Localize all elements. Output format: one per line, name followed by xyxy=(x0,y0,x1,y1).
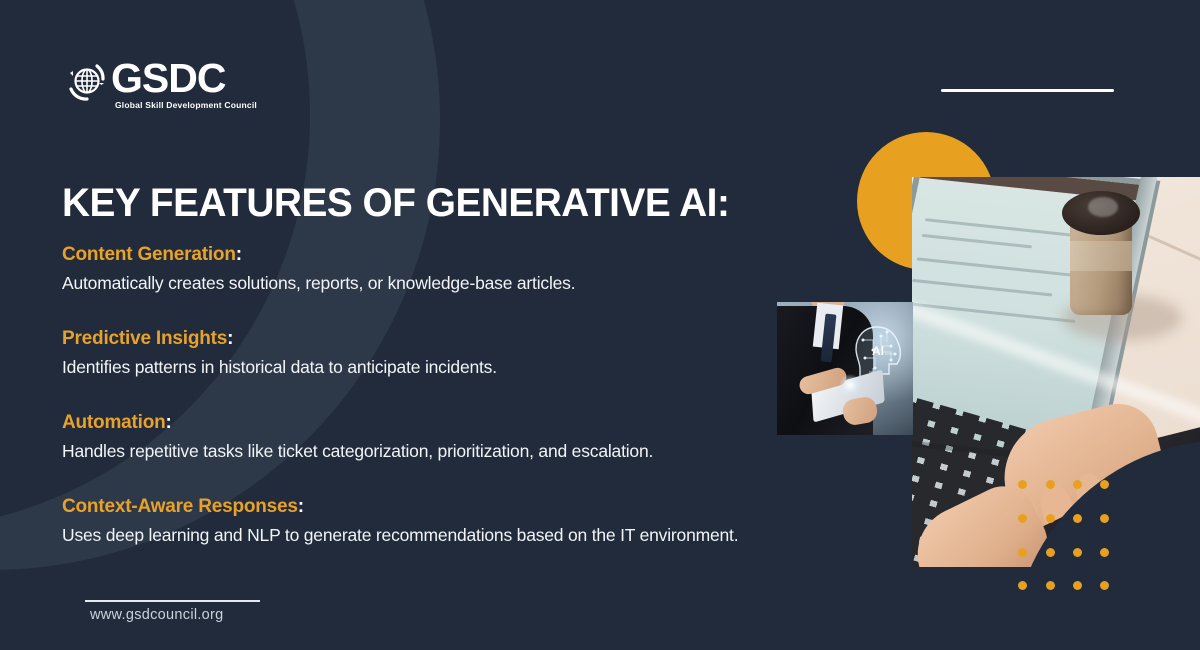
feature-title-colon: : xyxy=(227,328,233,349)
screen-text-line xyxy=(925,218,1076,237)
feature-item-predictive-insights: Predictive Insights: Identifies patterns… xyxy=(62,328,497,378)
amber-dot xyxy=(1100,581,1109,590)
feature-title-text: Context-Aware Responses xyxy=(62,496,298,517)
feature-title-text: Predictive Insights xyxy=(62,328,227,349)
feature-title: Automation: xyxy=(62,412,653,434)
holo-ai-label: AI xyxy=(872,344,884,358)
logo-tagline: Global Skill Development Council xyxy=(115,100,257,110)
logo-wordmark: GSDC xyxy=(111,55,225,101)
amber-dot xyxy=(1073,548,1082,557)
feature-title: Predictive Insights: xyxy=(62,328,497,350)
gsdc-logo[interactable]: GSDC Global Skill Development Council xyxy=(63,55,243,113)
amber-dot xyxy=(1100,514,1109,523)
amber-dot xyxy=(1018,480,1027,489)
amber-dot xyxy=(1046,581,1055,590)
poster-canvas: AI GSDC Global Skill Developme xyxy=(0,0,1200,650)
feature-item-automation: Automation: Handles repetitive tasks lik… xyxy=(62,412,653,462)
coffee-cup-band xyxy=(1070,241,1132,271)
photo-ai-hologram: AI xyxy=(777,302,913,435)
amber-dot xyxy=(1046,548,1055,557)
amber-dot xyxy=(1018,548,1027,557)
amber-dot xyxy=(1073,480,1082,489)
feature-body: Identifies patterns in historical data t… xyxy=(62,357,497,378)
footer-website-url[interactable]: www.gsdcouncil.org xyxy=(90,607,224,623)
feature-title-text: Automation xyxy=(62,412,166,433)
feature-title: Content Generation: xyxy=(62,244,575,266)
amber-dot xyxy=(1018,581,1027,590)
screen-text-line xyxy=(922,234,1033,248)
feature-item-content-generation: Content Generation: Automatically create… xyxy=(62,244,575,294)
amber-dot xyxy=(1046,514,1055,523)
coffee-cup-lid-highlight xyxy=(1088,197,1118,217)
feature-item-context-aware-responses: Context-Aware Responses: Uses deep learn… xyxy=(62,496,738,546)
feature-title: Context-Aware Responses: xyxy=(62,496,738,518)
feature-body: Automatically creates solutions, reports… xyxy=(62,273,575,294)
feature-title-colon: : xyxy=(298,496,304,517)
amber-dot xyxy=(1018,514,1027,523)
amber-dot xyxy=(1100,548,1109,557)
amber-dot xyxy=(1046,480,1055,489)
feature-body: Handles repetitive tasks like ticket cat… xyxy=(62,441,653,462)
feature-title-colon: : xyxy=(236,244,242,265)
amber-dot xyxy=(1073,514,1082,523)
page-title: KEY FEATURES OF GENERATIVE AI: xyxy=(62,181,729,226)
top-right-divider xyxy=(941,89,1114,92)
holo-touch-glow xyxy=(839,374,861,396)
feature-title-colon: : xyxy=(166,412,172,433)
globe-orbit-icon xyxy=(63,59,109,105)
screen-text-line xyxy=(912,279,1053,297)
amber-dot xyxy=(1100,480,1109,489)
feature-title-text: Content Generation xyxy=(62,244,236,265)
amber-dot xyxy=(1073,581,1082,590)
footer-divider xyxy=(85,600,260,602)
feature-body: Uses deep learning and NLP to generate r… xyxy=(62,525,738,546)
